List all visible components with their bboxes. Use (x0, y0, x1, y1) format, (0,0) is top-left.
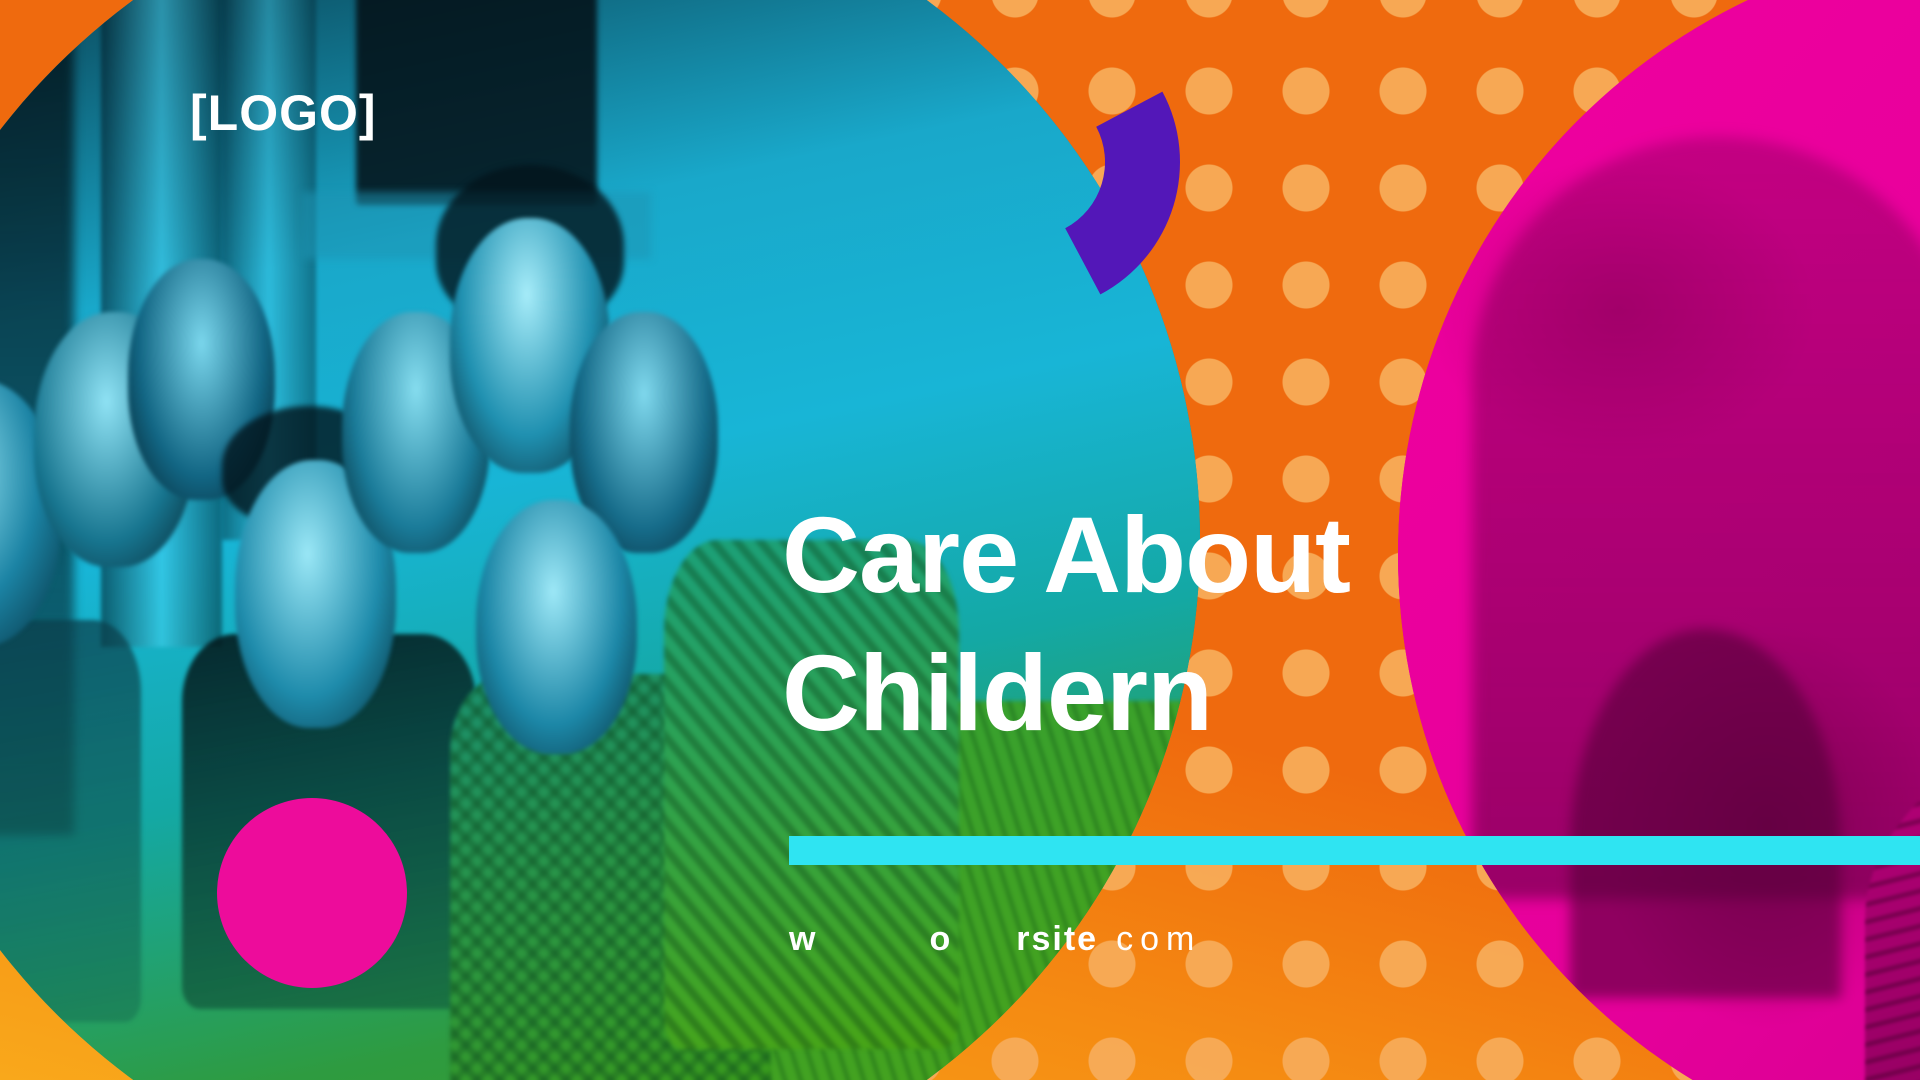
child-portrait-photo-magenta-duotone (1398, 0, 1920, 1080)
logo[interactable]: [LOGO] (190, 88, 377, 138)
website-url[interactable]: w o rsite com (789, 920, 1201, 959)
headline-line-1: Care About (782, 494, 1350, 615)
child-shirt (0, 620, 141, 1022)
url-part-2: o (929, 920, 952, 959)
url-part-3: rsite (1016, 920, 1098, 959)
url-part-1: w (789, 920, 817, 959)
url-part-4: com (1116, 920, 1201, 959)
headline-line-2: Childern (782, 624, 1350, 762)
child-face (476, 500, 637, 755)
page-title: Care About Childern (782, 486, 1350, 762)
charity-banner: [LOGO] Care About Childern w o rsite com (0, 0, 1920, 1080)
magenta-solid-circle (217, 798, 407, 988)
cyan-divider-bar (789, 836, 1920, 865)
